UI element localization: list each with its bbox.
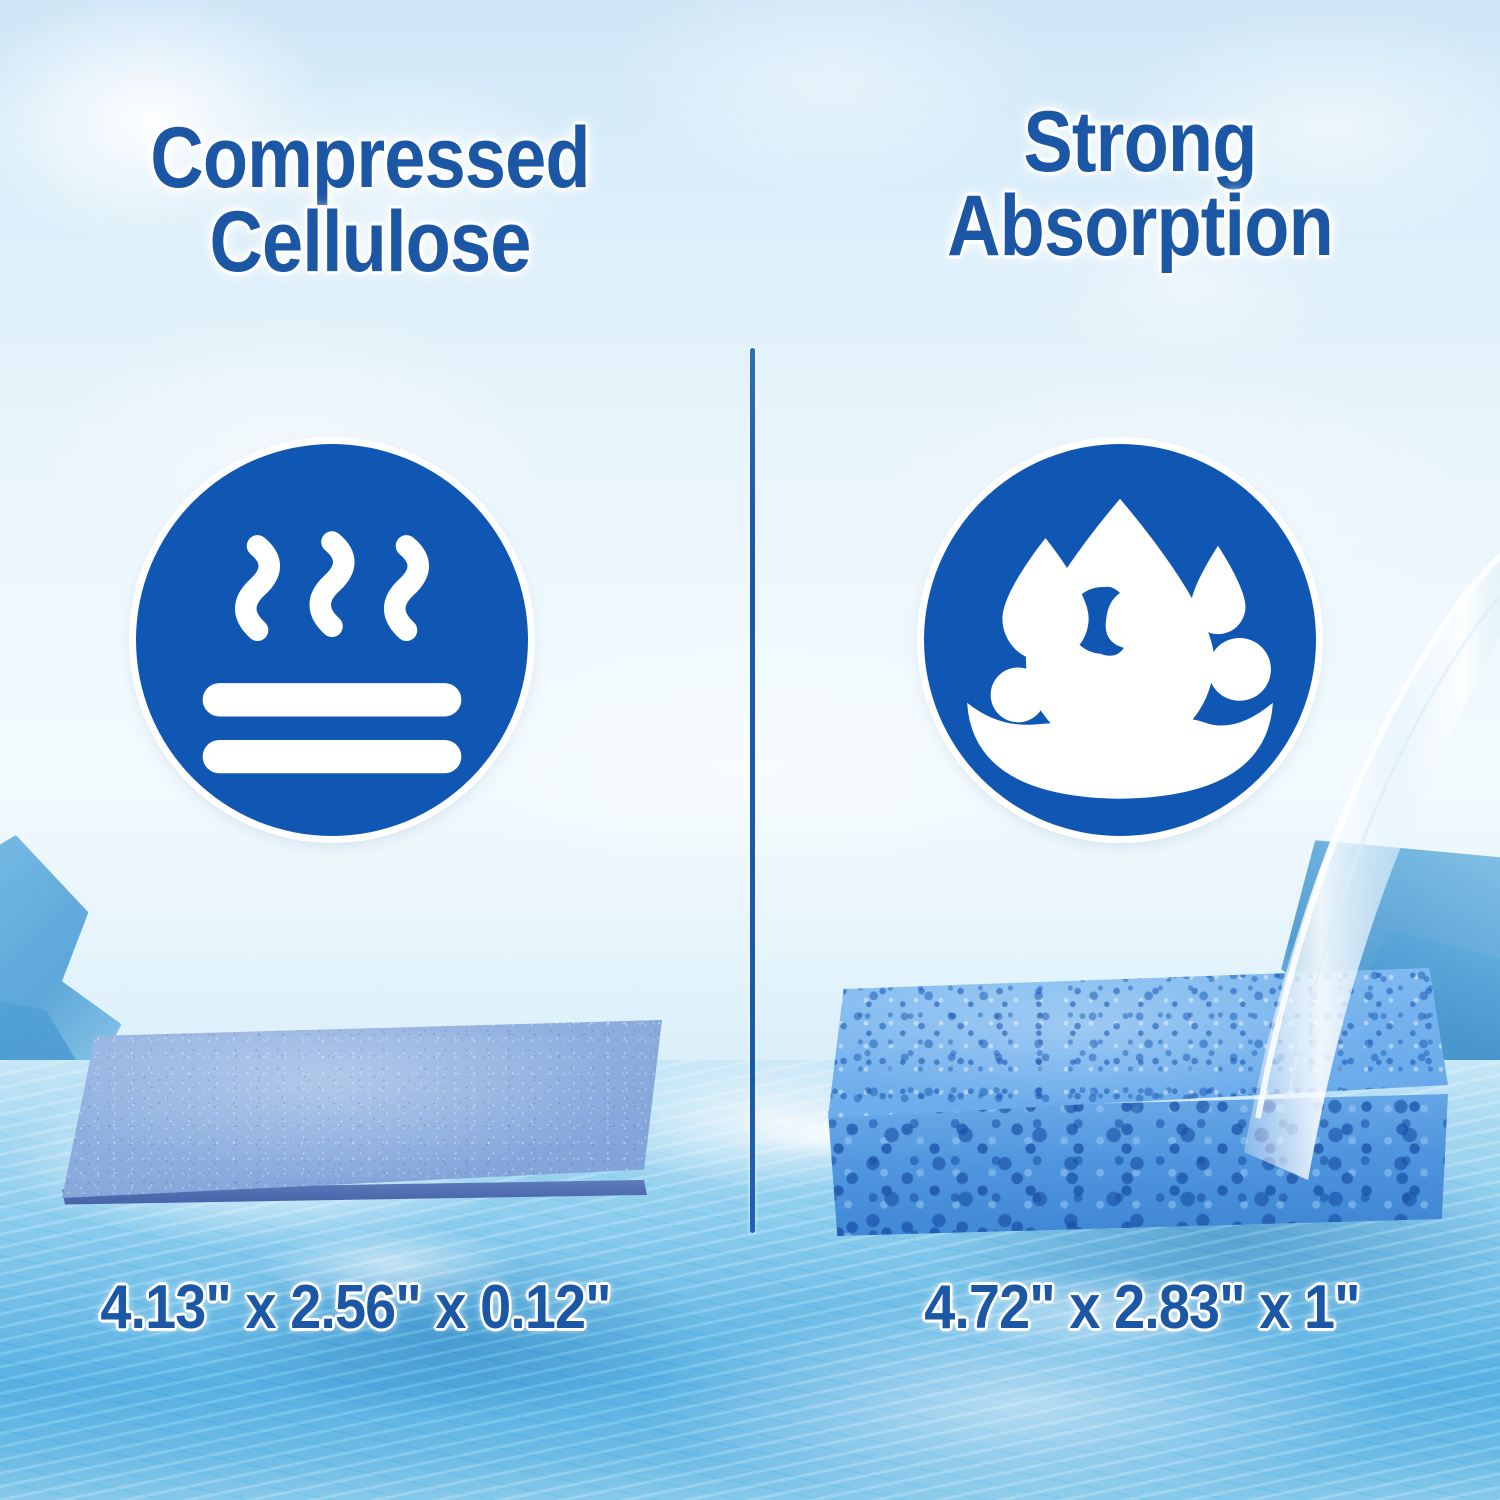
water-droplet-absorption-icon (924, 444, 1316, 836)
dimensions-compressed-cellulose: 4.13" x 2.56" x 0.12" (100, 1272, 610, 1343)
water-splash (1050, 1070, 1390, 1165)
dimensions-strong-absorption: 4.72" x 2.83" x 1" (924, 1272, 1359, 1343)
water-splash (700, 1100, 1000, 1170)
compressed-layers-icon (136, 444, 528, 836)
badge-strong-absorption (924, 444, 1316, 836)
panel-heading-compressed-cellulose: Compressed Cellulose (69, 116, 671, 285)
panel-heading-strong-absorption: Strong Absorption (839, 100, 1441, 269)
vertical-panel-divider (750, 348, 755, 1233)
product-feature-comparison: Compressed Cellulose 4.13" x 2.56" x 0.1… (0, 0, 1500, 1500)
water-splash (80, 1080, 340, 1160)
badge-compressed-cellulose (136, 444, 528, 836)
water-splash (380, 1064, 700, 1154)
